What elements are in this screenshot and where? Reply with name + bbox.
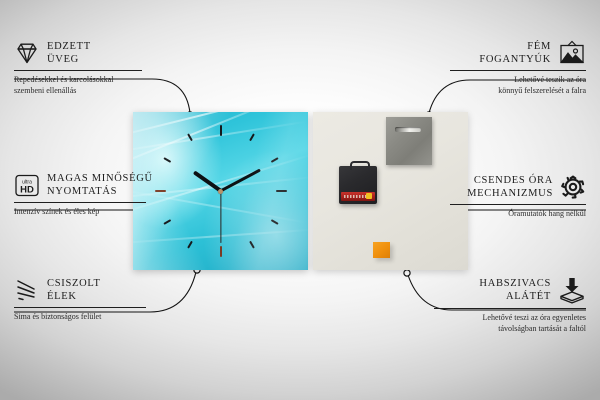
feature-title-line2: FOGANTYÚK	[479, 53, 551, 66]
feature-desc-line1: Intenzív színek és éles kép	[14, 207, 164, 218]
feature-title-line2: ÉLEK	[47, 290, 101, 303]
feature-header: ultra HD MAGAS MINŐSÉGŰ NYOMTATÁS	[14, 172, 164, 198]
feature-title-line2: ÜVEG	[47, 53, 91, 66]
feature-header: EDZETT ÜVEG	[14, 40, 154, 66]
feature-metal-handles: FÉM FOGANTYÚK Lehetővé teszik az óra kön…	[436, 40, 586, 96]
feature-desc-line1: Sima és biztonságos felület	[14, 312, 164, 323]
feature-divider	[434, 308, 586, 309]
ultra-hd-icon-bottom: HD	[20, 184, 34, 195]
feature-desc-line2: távolságban tartását a faltól	[420, 324, 586, 335]
feature-desc-line2: szembeni ellenállás	[14, 86, 154, 97]
feature-desc-line2: könnyű felszerelését a falra	[436, 86, 586, 97]
feature-desc-line1: Óramutatók hang nélkül	[436, 209, 586, 220]
foam-pad-icon	[558, 276, 586, 304]
feature-divider	[14, 307, 146, 308]
polished-edges-icon	[14, 278, 40, 302]
feature-desc-line1: Repedésekkel és karcolásokkal	[14, 75, 154, 86]
feature-header: CSISZOLT ÉLEK	[14, 277, 164, 303]
feature-header: FÉM FOGANTYÚK	[436, 40, 586, 66]
infographic-canvas: EDZETT ÜVEG Repedésekkel és karcolásokka…	[0, 0, 600, 400]
feature-silent-clock-mechanism: CSENDES ÓRA MECHANIZMUS Óramutatók hang …	[436, 174, 586, 220]
metal-hanger-plate	[386, 117, 432, 165]
product-image	[133, 112, 468, 270]
feature-desc-line1: Lehetővé teszi az óra egyenletes	[420, 313, 586, 324]
mechanism-tab	[350, 161, 370, 170]
feature-divider	[450, 70, 586, 71]
diamond-icon	[14, 41, 40, 65]
feature-desc-line1: Lehetővé teszik az óra	[436, 75, 586, 86]
gear-icon	[560, 174, 586, 200]
connector-dot-foam-underlay	[404, 270, 410, 276]
battery-plus-terminal	[366, 193, 372, 199]
feature-header: HABSZIVACS ALÁTÉT	[420, 276, 586, 304]
feature-title-line2: ALÁTÉT	[479, 290, 551, 303]
feature-title-line1: CSENDES ÓRA	[467, 174, 553, 187]
battery	[341, 192, 375, 201]
feature-header: CSENDES ÓRA MECHANIZMUS	[436, 174, 586, 200]
foam-pad	[373, 242, 390, 258]
feature-title-line1: EDZETT	[47, 40, 91, 53]
feature-title-line1: MAGAS MINŐSÉGŰ	[47, 172, 153, 185]
feature-high-quality-print: ultra HD MAGAS MINŐSÉGŰ NYOMTATÁS Intenz…	[14, 172, 164, 218]
feature-foam-underlay: HABSZIVACS ALÁTÉT Lehetővé teszi az óra …	[420, 276, 586, 334]
hanger-slot	[395, 127, 421, 132]
feature-divider	[14, 70, 142, 71]
feature-title-line2: MECHANIZMUS	[467, 187, 553, 200]
quartz-mechanism	[339, 166, 377, 204]
feature-title-line1: HABSZIVACS	[479, 277, 551, 290]
ultra-hd-icon: ultra HD	[14, 173, 40, 198]
feature-title-line2: NYOMTATÁS	[47, 185, 153, 198]
feature-tempered-glass: EDZETT ÜVEG Repedésekkel és karcolásokka…	[14, 40, 154, 96]
feature-polished-edges: CSISZOLT ÉLEK Sima és biztonságos felüle…	[14, 277, 164, 323]
battery-label	[344, 195, 366, 198]
feature-divider	[14, 202, 146, 203]
feature-title-line1: CSISZOLT	[47, 277, 101, 290]
feature-title-line1: FÉM	[479, 40, 551, 53]
picture-hanger-icon	[558, 40, 586, 66]
feature-divider	[450, 204, 586, 205]
